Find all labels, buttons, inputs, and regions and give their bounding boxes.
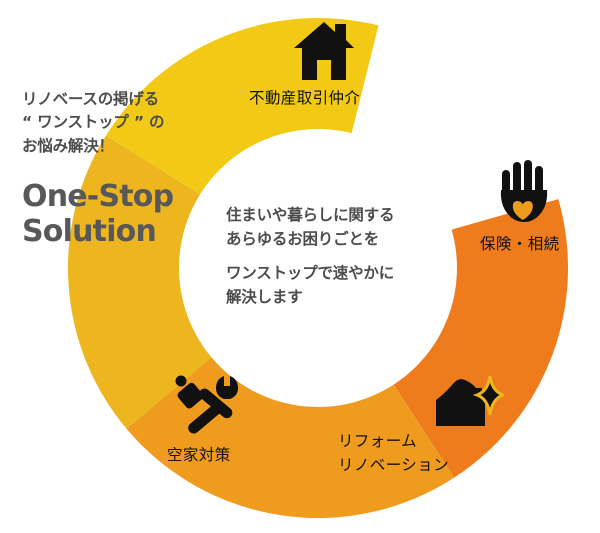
- slice-label-realestate: 不動産取引仲介: [249, 86, 360, 110]
- page-title-line-2: Solution: [22, 215, 232, 250]
- center-description: 住まいや暮らしに関する あらゆるお困りごとを ワンストップで速やかに 解決します: [226, 204, 456, 309]
- page-title: One-Stop Solution: [22, 180, 232, 250]
- lead-line-3: お悩み解決！: [22, 135, 232, 158]
- lead-line-2: “ ワンストップ ” の: [22, 111, 232, 134]
- center-paragraph1-line2: あらゆるお困りごとを: [226, 228, 456, 252]
- slice-label-reform: リフォーム リノベーション: [338, 429, 449, 477]
- hand-heart-icon: [496, 158, 552, 228]
- slice-label-reform-line1: リフォーム: [338, 429, 449, 453]
- lead-line-1: リノベースの掲げる: [22, 88, 232, 111]
- hammer-wrench-icon-glyph: [172, 372, 248, 434]
- house-icon: [290, 20, 360, 82]
- hammer-wrench-icon: [172, 372, 248, 434]
- paragraph-spacer: [226, 251, 456, 262]
- slice-label-reform-line2: リノベーション: [338, 453, 449, 477]
- house-icon-glyph: [290, 20, 360, 82]
- infographic-canvas: リノベースの掲げる “ ワンストップ ” の お悩み解決！ One-Stop S…: [0, 0, 600, 533]
- center-paragraph1-line1: 住まいや暮らしに関する: [226, 204, 456, 228]
- headline-block: リノベースの掲げる “ ワンストップ ” の お悩み解決！ One-Stop S…: [22, 88, 232, 249]
- slice-label-vacant: 空家対策: [167, 443, 231, 467]
- house-sparkle-icon: [432, 374, 504, 430]
- slice-label-realestate-line1: 不動産取引仲介: [249, 86, 360, 110]
- slice-label-insurance-line1: 保険・相続: [480, 232, 560, 256]
- hand-heart-icon-glyph: [496, 158, 552, 228]
- slice-label-insurance: 保険・相続: [480, 232, 560, 256]
- center-paragraph2-line1: ワンストップで速やかに: [226, 262, 456, 286]
- house-sparkle-icon-glyph: [432, 374, 504, 430]
- slice-label-vacant-line1: 空家対策: [167, 443, 231, 467]
- center-paragraph2-line2: 解決します: [226, 286, 456, 310]
- page-title-line-1: One-Stop: [22, 180, 232, 215]
